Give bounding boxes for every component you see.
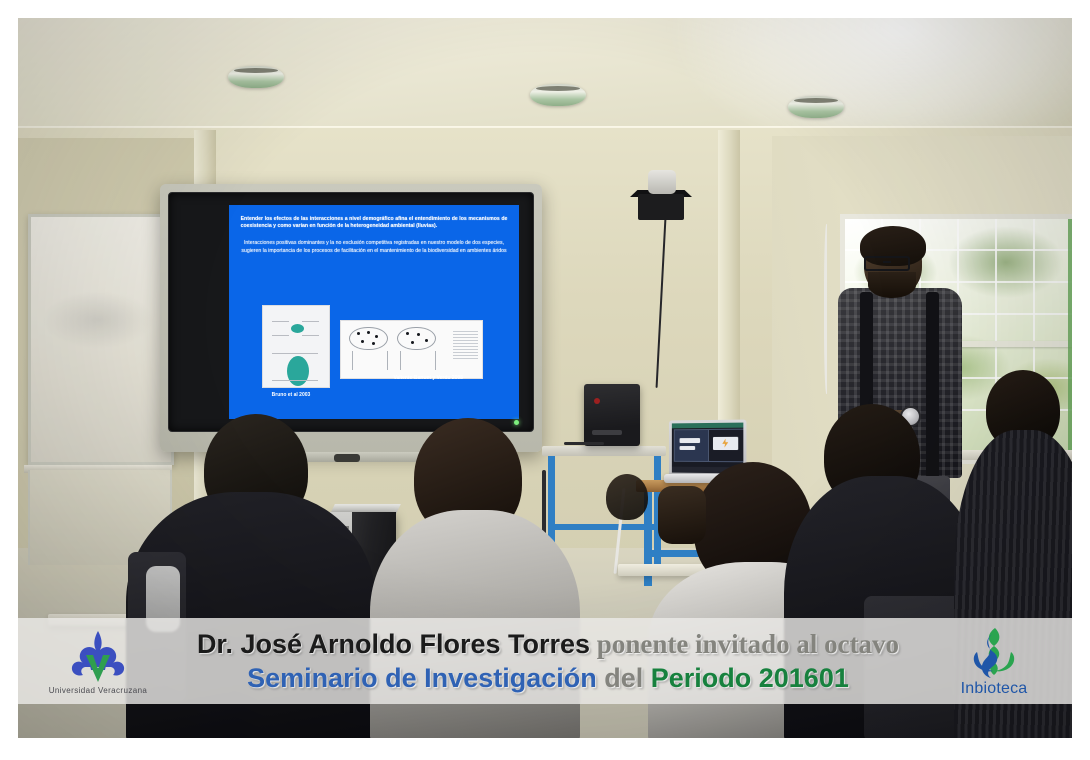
fleur-de-lis-icon <box>66 629 130 685</box>
signal-cable <box>564 442 604 445</box>
ceiling-lamp-icon <box>788 96 844 118</box>
seminar-photo: Entender los efectos de las interaccione… <box>18 18 1072 738</box>
photo-frame: Entender los efectos de las interaccione… <box>0 0 1090 760</box>
window-green-frame <box>1068 219 1072 459</box>
inbioteca-logo-caption: Inbioteca <box>961 680 1028 698</box>
slide-text-block: Entender los efectos de las interaccione… <box>241 216 508 262</box>
laptop-menu-bar <box>672 423 743 429</box>
caption-text: Dr. José Arnoldo Flores Torres ponente i… <box>197 629 899 693</box>
audience-hand <box>658 486 706 544</box>
figure-cluster <box>349 327 388 351</box>
caption-connector: del <box>597 663 651 693</box>
table-crossbar <box>550 524 658 530</box>
ceiling-lamp-icon <box>228 66 284 88</box>
slide-figures: Bruno et al 2003 Valiente-Banuet y Verdu… <box>252 303 496 406</box>
uv-logo-caption: Universidad Veracruzana <box>49 686 148 695</box>
codec-power-led-icon <box>594 398 600 404</box>
figure-tree <box>400 351 436 371</box>
equipment-table-top <box>542 446 666 456</box>
laptop-window-right <box>708 429 743 463</box>
display-power-led-icon <box>514 420 519 425</box>
period-label: Periodo 201601 <box>651 663 849 693</box>
presenter-beard <box>868 272 916 298</box>
slide-citation-right: Valiente-Banuet y Verdu 2008 <box>393 375 462 382</box>
display-bezel: Entender los efectos de las interaccione… <box>168 192 534 432</box>
inbioteca-logo: Inbioteca <box>934 622 1054 702</box>
laptop-window-left <box>674 429 709 462</box>
glasses-icon <box>864 256 910 271</box>
presenter-name: Dr. José Arnoldo Flores Torres <box>197 629 590 659</box>
caption-banner: Universidad Veracruzana Dr. José Arnoldo… <box>18 618 1072 704</box>
caption-line-2: Seminario de Investigación del Periodo 2… <box>197 663 899 693</box>
figure-tree <box>352 351 388 371</box>
slide-citation-left: Bruno et al 2003 <box>272 392 311 399</box>
seminar-title: Seminario de Investigación <box>247 663 597 693</box>
display-brand-label <box>522 205 523 210</box>
display-ir-sensor <box>334 454 360 462</box>
caption-line-1: Dr. José Arnoldo Flores Torres ponente i… <box>197 629 899 659</box>
ceiling-lamp-icon <box>530 84 586 106</box>
figure-node <box>287 356 309 386</box>
whiteboard-smudge <box>42 291 154 350</box>
video-conference-codec[interactable] <box>584 384 640 446</box>
interactive-smartboard[interactable]: Entender los efectos de las interaccione… <box>160 184 542 452</box>
slide-screen: Entender los efectos de las interaccione… <box>229 205 519 419</box>
slide-figure-left <box>262 305 330 387</box>
camera-bracket <box>638 194 684 220</box>
codec-label <box>592 430 622 435</box>
caption-line-1-rest: ponente invitado al octavo <box>590 629 899 659</box>
figure-cluster <box>397 327 436 351</box>
slide-figure-right <box>340 320 483 380</box>
slide-paragraph-1: Entender los efectos de las interaccione… <box>241 216 508 232</box>
video-conference-camera <box>648 170 676 194</box>
figure-node <box>291 324 304 333</box>
universidad-veracruzana-logo: Universidad Veracruzana <box>40 622 156 702</box>
presenter-suspender <box>926 292 939 478</box>
inbioteca-mark-icon <box>965 626 1023 680</box>
whiteboard <box>28 214 174 465</box>
slide-paragraph-2: Interacciones positivas dominantes y la … <box>241 240 508 256</box>
figure-caption-text <box>453 331 478 361</box>
ceiling <box>18 18 1072 138</box>
